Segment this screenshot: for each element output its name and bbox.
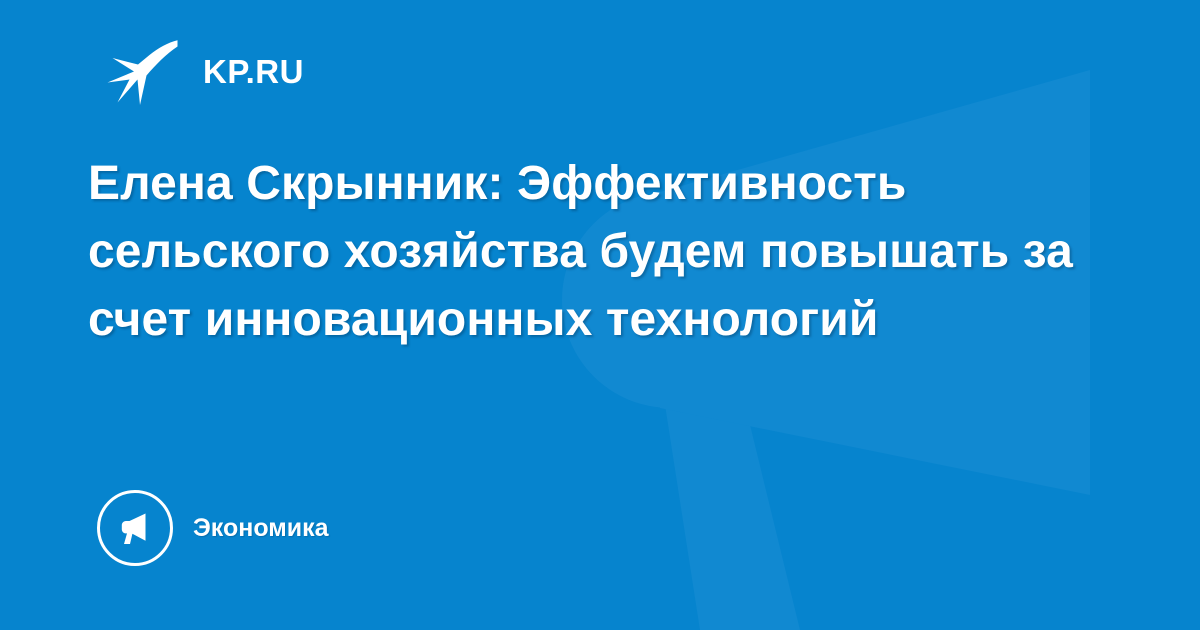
megaphone-icon-circle — [97, 490, 173, 566]
status-badge-label: Экономика — [193, 516, 329, 541]
brand-header[interactable]: KP.RU — [105, 33, 304, 109]
brand-name: KP.RU — [203, 55, 304, 88]
status-badge[interactable]: Экономика — [97, 487, 329, 569]
social-share-card: KP.RU Елена Скрынник: Эффективность сель… — [0, 0, 1200, 630]
page-title: Елена Скрынник: Эффективность сельского … — [88, 150, 1098, 354]
swallow-bird-icon — [105, 35, 183, 107]
megaphone-icon — [114, 507, 156, 549]
